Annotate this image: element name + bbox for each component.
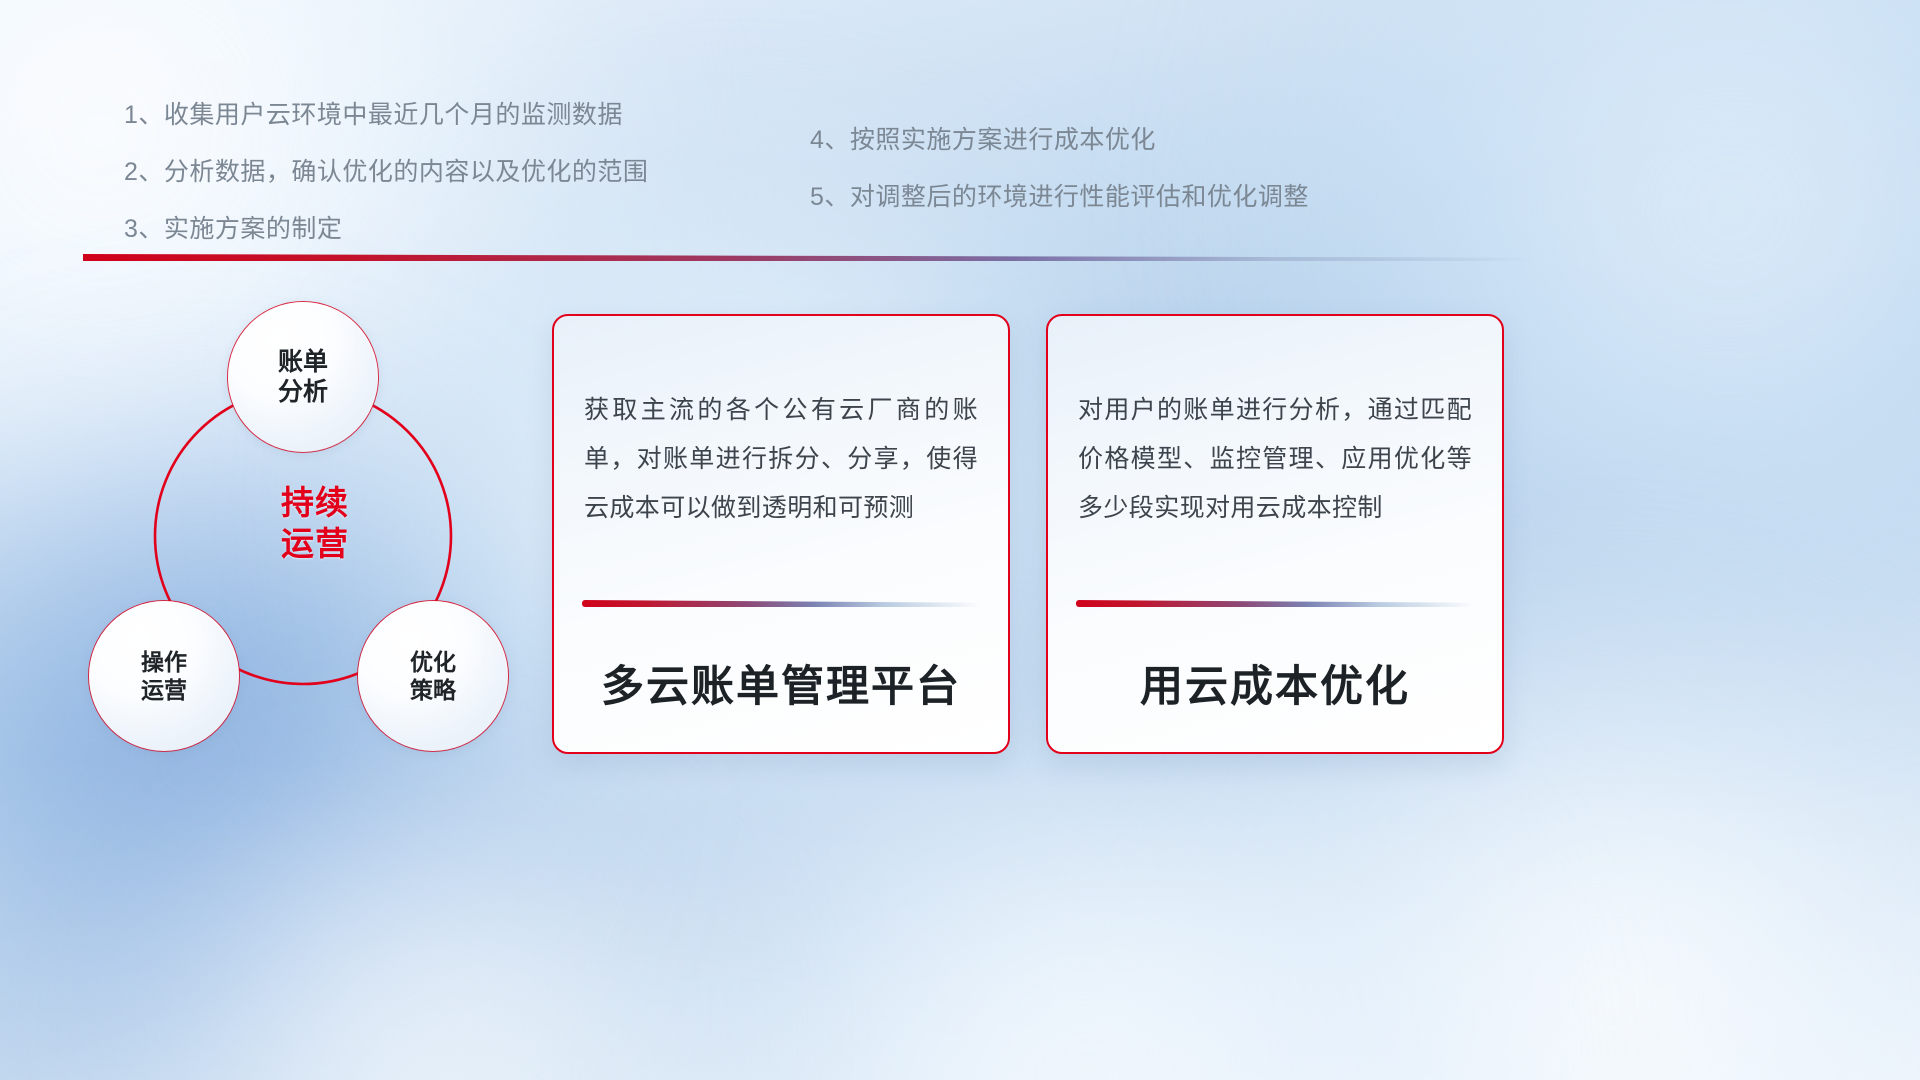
card-title: 用云成本优化: [1048, 652, 1502, 714]
steps-list-right: 4、按照实施方案进行成本优化 5、对调整后的环境进行性能评估和优化调整: [810, 128, 1309, 242]
venn-center-line2: 运营: [80, 523, 550, 564]
venn-bubble-operations[interactable]: 操作 运营: [89, 601, 239, 751]
venn-center-label: 持续 运营: [80, 482, 550, 565]
venn-center-line1: 持续: [80, 482, 550, 523]
venn-bubble-label-line2: 运营: [141, 676, 187, 704]
venn-bubble-label-line2: 分析: [278, 377, 328, 408]
step-item: 3、实施方案的制定: [124, 217, 648, 242]
venn-bubble-label-line1: 优化: [410, 648, 456, 676]
steps-list-left: 1、收集用户云环境中最近几个月的监测数据 2、分析数据，确认优化的内容以及优化的…: [124, 103, 648, 274]
card-divider: [582, 600, 980, 607]
venn-diagram: 账单 分析 操作 运营 优化 策略 持续 运营: [80, 286, 550, 764]
venn-bubble-optimization-strategy[interactable]: 优化 策略: [358, 601, 508, 751]
step-item: 4、按照实施方案进行成本优化: [810, 128, 1309, 153]
feature-card-multicloud-billing[interactable]: 获取主流的各个公有云厂商的账单，对账单进行拆分、分享，使得云成本可以做到透明和可…: [552, 314, 1010, 754]
venn-bubble-label-line1: 账单: [278, 347, 328, 378]
venn-bubble-label-line1: 操作: [141, 648, 187, 676]
venn-bubble-billing-analysis[interactable]: 账单 分析: [228, 302, 378, 452]
step-item: 1、收集用户云环境中最近几个月的监测数据: [124, 103, 648, 128]
venn-bubble-label-line2: 策略: [410, 676, 456, 704]
step-item: 2、分析数据，确认优化的内容以及优化的范围: [124, 160, 648, 185]
card-divider: [1076, 600, 1474, 607]
step-item: 5、对调整后的环境进行性能评估和优化调整: [810, 185, 1309, 210]
card-description: 获取主流的各个公有云厂商的账单，对账单进行拆分、分享，使得云成本可以做到透明和可…: [554, 316, 1008, 532]
card-title: 多云账单管理平台: [554, 652, 1008, 714]
card-description: 对用户的账单进行分析，通过匹配价格模型、监控管理、应用优化等多少段实现对用云成本…: [1048, 316, 1502, 532]
feature-card-cost-optimization[interactable]: 对用户的账单进行分析，通过匹配价格模型、监控管理、应用优化等多少段实现对用云成本…: [1046, 314, 1504, 754]
